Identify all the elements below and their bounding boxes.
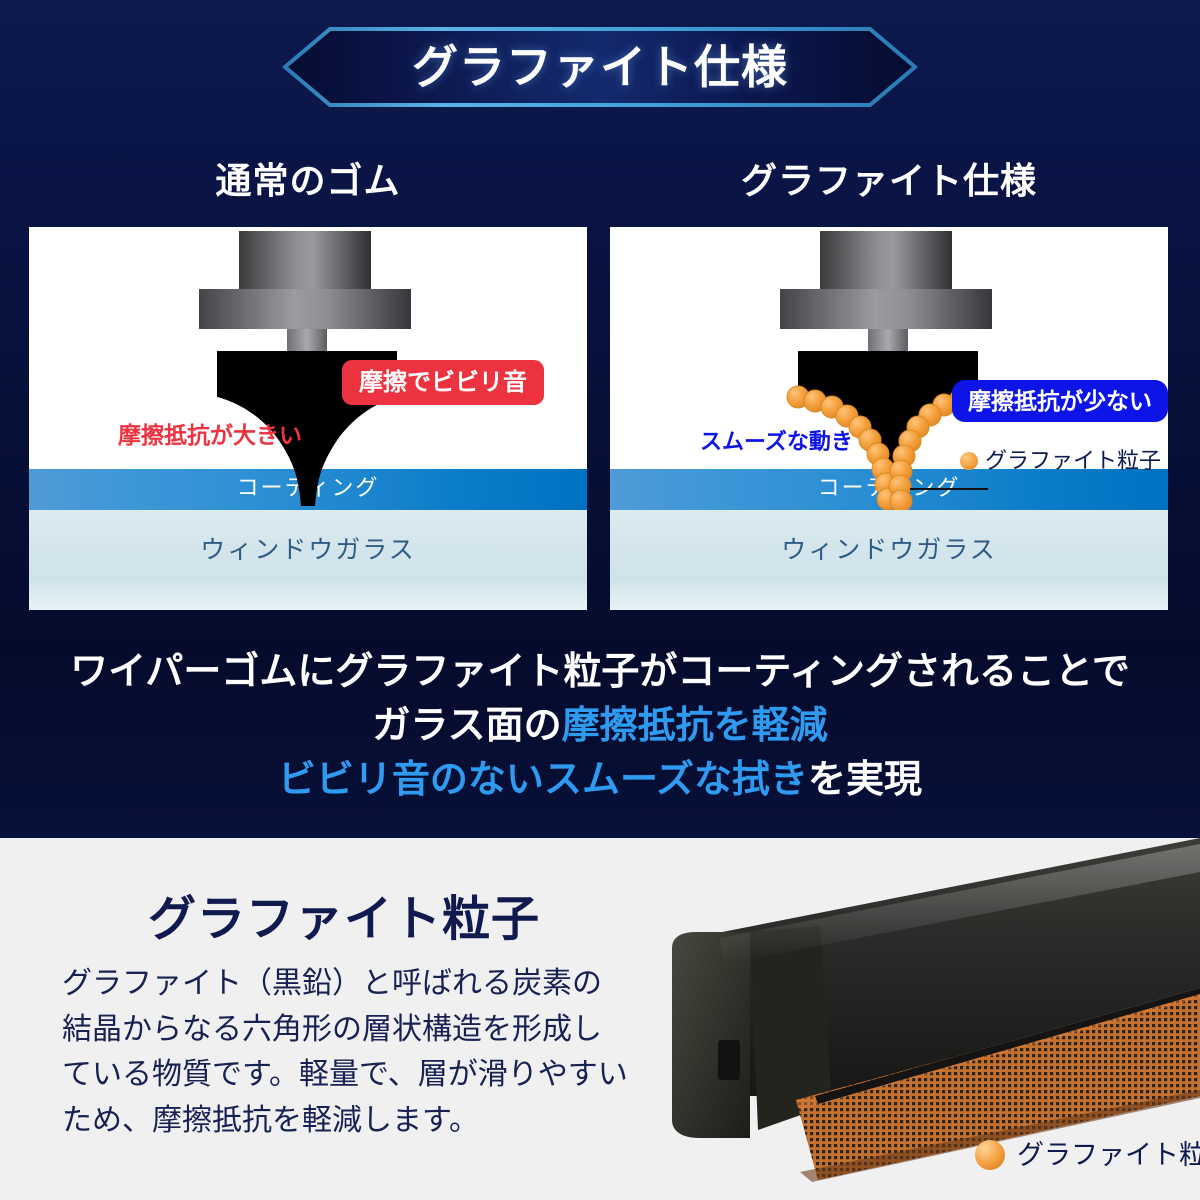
detail-body: グラファイト（黒鉛）と呼ばれる炭素の結晶からなる六角形の層状構造を形成している物… [62,961,630,1143]
left-glass-layer: ウィンドウガラス [29,510,587,610]
left-panel-title: 通常のゴム [29,163,587,199]
right-arrow-label: スムーズな動き [700,431,853,453]
lede-copy: ワイパーゴムにグラファイト粒子がコーティングされることで ガラス面の摩擦抵抗を軽… [0,646,1200,808]
left-glass-label: ウィンドウガラス [29,538,587,563]
infographic-root: グラファイト仕様 通常のゴム グラファイト仕様 ウィンドウガラス コーティング [0,0,1200,1200]
right-glass-label: ウィンドウガラス [610,538,1168,563]
left-arrow-label: 摩擦抵抗が大きい [118,424,302,447]
graphite-particle-icon [960,452,978,470]
graphite-legend: グラファイト粒子 [975,1140,1200,1170]
lede-line-1: ワイパーゴムにグラファイト粒子がコーティングされることで [0,646,1200,700]
graphite-particle-callout-label: グラファイト粒子 [985,450,1161,472]
top-section: グラファイト仕様 通常のゴム グラファイト仕様 ウィンドウガラス コーティング [0,0,1200,838]
header-title: グラファイト仕様 [282,26,918,108]
graphite-legend-icon [975,1140,1005,1170]
lede-line-2: ガラス面の摩擦抵抗を軽減 [0,700,1200,754]
header-banner: グラファイト仕様 [282,26,918,108]
lede-line-3: ビビリ音のないスムーズな拭きを実現 [0,754,1200,808]
left-diagram-panel: ウィンドウガラス コーティング [29,227,587,610]
graphite-particle-callout: グラファイト粒子 [960,450,1161,472]
right-panel-title: グラファイト仕様 [610,163,1168,199]
right-glass-layer: ウィンドウガラス [610,510,1168,610]
graphite-legend-label: グラファイト粒子 [1017,1142,1200,1169]
right-badge-low-friction: 摩擦抵抗が少ない [952,380,1168,422]
detail-heading: グラファイト粒子 [148,896,540,944]
left-badge-noise: 摩擦でビビリ音 [342,360,544,405]
